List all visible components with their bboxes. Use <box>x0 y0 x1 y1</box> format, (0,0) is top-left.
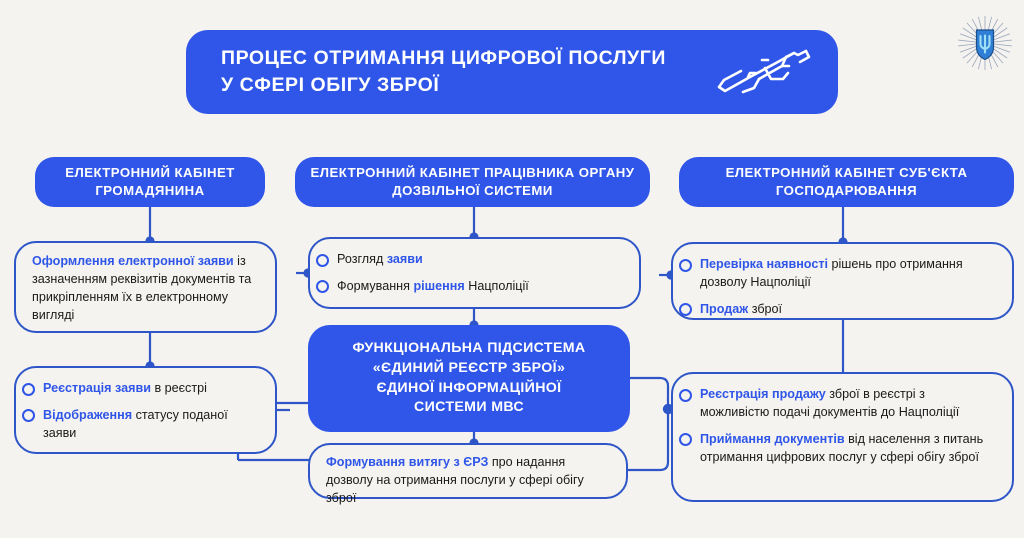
card-sale-registration: Реєстрація продажу зброї в реєстрі з мож… <box>671 372 1014 502</box>
bullet-icon <box>679 303 692 316</box>
column-header-permit-authority: ЕЛЕКТРОННИЙ КАБІНЕТ ПРАЦІВНИКА ОРГАНУ ДО… <box>295 157 650 207</box>
list-item-text: Реєстрація продажу зброї в реєстрі з мож… <box>700 386 996 422</box>
core-line-3: ЄДИНОЇ ІНФОРМАЦІЙНОЇ <box>377 380 562 396</box>
highlight-text: Реєстрація продажу <box>700 387 826 401</box>
lead-text: Формування <box>337 279 410 293</box>
list-item: Відображення статусу поданої заяви <box>34 407 259 443</box>
list-item-text: Приймання документів від населення з пит… <box>700 431 996 467</box>
card-decision-check: Перевірка наявності рішень про отримання… <box>671 242 1014 320</box>
highlight-text: Реєстрація заяви <box>43 381 151 395</box>
list-item: Формування рішення Нацполіції <box>328 278 623 296</box>
highlight-text: Відображення <box>43 408 132 422</box>
core-system-box: ФУНКЦІОНАЛЬНА ПІДСИСТЕМА «ЄДИНИЙ РЕЄСТР … <box>308 325 630 432</box>
core-line-2: «ЄДИНИЙ РЕЄСТР ЗБРОЇ» <box>373 360 565 376</box>
card-application-registration: Реєстрація заяви в реєстрі Відображення … <box>14 366 277 454</box>
lead-text: Розгляд <box>337 252 383 266</box>
bullet-icon <box>316 254 329 267</box>
list-item-text: Відображення статусу поданої заяви <box>43 407 259 443</box>
rifle-icon <box>708 44 816 100</box>
body-text: в реєстрі <box>154 381 207 395</box>
page-title: ПРОЦЕС ОТРИМАННЯ ЦИФРОВОЇ ПОСЛУГИ У СФЕР… <box>186 45 666 99</box>
highlight-text: заяви <box>387 252 423 266</box>
title-banner: ПРОЦЕС ОТРИМАННЯ ЦИФРОВОЇ ПОСЛУГИ У СФЕР… <box>186 30 838 114</box>
list-item: Розгляд заяви <box>328 251 623 269</box>
list-item: Реєстрація продажу зброї в реєстрі з мож… <box>691 386 996 422</box>
bullet-icon <box>22 383 35 396</box>
list-item-text: Оформлення електронної заяви із зазначен… <box>32 253 261 325</box>
card-application-review: Розгляд заяви Формування рішення Нацполі… <box>308 237 641 309</box>
column-header-business-entity: ЕЛЕКТРОННИЙ КАБІНЕТ СУБ'ЄКТА ГОСПОДАРЮВА… <box>679 157 1014 207</box>
core-line-1: ФУНКЦІОНАЛЬНА ПІДСИСТЕМА <box>352 340 585 356</box>
page-title-line-1: ПРОЦЕС ОТРИМАННЯ ЦИФРОВОЇ ПОСЛУГИ <box>221 47 666 69</box>
body-text: Нацполіції <box>468 279 529 293</box>
list-item-text: Реєстрація заяви в реєстрі <box>43 380 207 398</box>
highlight-text: Оформлення електронної заяви <box>32 254 234 268</box>
bullet-icon <box>22 409 35 422</box>
list-item: Перевірка наявності рішень про отримання… <box>691 256 996 292</box>
highlight-text: Формування витягу з ЄРЗ <box>326 455 488 469</box>
list-item: Продаж зброї <box>691 301 996 319</box>
bullet-icon <box>679 389 692 402</box>
card-registry-extract: Формування витягу з ЄРЗ про надання дозв… <box>308 443 628 499</box>
list-item-text: Формування витягу з ЄРЗ про надання дозв… <box>326 454 612 508</box>
column-header-citizen: ЕЛЕКТРОННИЙ КАБІНЕТ ГРОМАДЯНИНА <box>35 157 265 207</box>
list-item-text: Формування рішення Нацполіції <box>337 278 529 296</box>
list-item: Приймання документів від населення з пит… <box>691 431 996 467</box>
core-system-text: ФУНКЦІОНАЛЬНА ПІДСИСТЕМА «ЄДИНИЙ РЕЄСТР … <box>352 339 585 419</box>
body-text: зброї <box>752 302 782 316</box>
highlight-text: Продаж <box>700 302 748 316</box>
list-item-text: Продаж зброї <box>700 301 782 319</box>
highlight-text: рішення <box>413 279 464 293</box>
list-item-text: Перевірка наявності рішень про отримання… <box>700 256 996 292</box>
page-title-line-2: У СФЕРІ ОБІГУ ЗБРОЇ <box>221 74 439 96</box>
list-item: Оформлення електронної заяви із зазначен… <box>32 253 261 325</box>
bullet-icon <box>316 280 329 293</box>
highlight-text: Приймання документів <box>700 432 845 446</box>
bullet-icon <box>679 259 692 272</box>
list-item-text: Розгляд заяви <box>337 251 423 269</box>
list-item: Реєстрація заяви в реєстрі <box>34 380 259 398</box>
highlight-text: Перевірка наявності <box>700 257 828 271</box>
core-line-4: СИСТЕМИ МВС <box>414 399 524 415</box>
list-item: Формування витягу з ЄРЗ про надання дозв… <box>326 454 612 508</box>
infographic-canvas: ПРОЦЕС ОТРИМАННЯ ЦИФРОВОЇ ПОСЛУГИ У СФЕР… <box>0 0 1024 538</box>
bullet-icon <box>679 433 692 446</box>
mvs-emblem-icon <box>956 14 1014 72</box>
card-electronic-application: Оформлення електронної заяви із зазначен… <box>14 241 277 333</box>
